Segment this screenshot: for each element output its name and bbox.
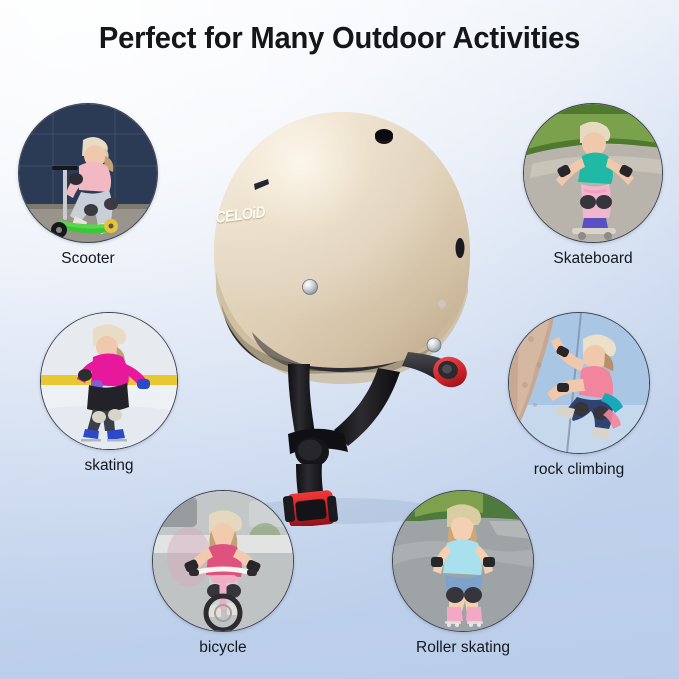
rock-climbing-scene [509,313,649,453]
bicycle-scene [153,491,293,631]
activity-card-bicycle[interactable]: bicycle [152,490,294,657]
activity-photo-rock-climbing [508,312,650,454]
helmet-highlight [214,112,470,368]
activity-card-scooter[interactable]: Scooter [18,103,158,268]
rivet-rear-icon [427,338,441,352]
activity-photo-scooter [18,103,158,243]
roller-skating-scene [393,491,533,631]
rivet-front-icon [303,280,318,295]
activity-card-roller-skating[interactable]: Roller skating [392,490,534,657]
vent-top-inner [375,129,393,141]
activity-label-scooter: Scooter [18,250,158,268]
activity-card-skateboard[interactable]: Skateboard [523,103,663,268]
activity-label-roller-skating: Roller skating [392,639,534,657]
activity-photo-roller-skating [392,490,534,632]
skateboard-scene [524,104,662,242]
activity-label-skateboard: Skateboard [523,250,663,268]
rivet-side-icon [438,300,446,308]
activity-label-bicycle: bicycle [152,639,294,657]
infographic-canvas: Perfect for Many Outdoor Activities [0,0,679,679]
skating-scene [41,313,177,449]
activity-card-rock-climbing[interactable]: rock climbing [508,312,650,479]
page-title: Perfect for Many Outdoor Activities [20,20,658,56]
product-helmet-image: CELOiD [192,96,492,526]
scooter-scene [19,104,157,242]
rear-dial-adjuster [402,352,471,392]
activity-card-skating[interactable]: skating [40,312,178,475]
activity-photo-bicycle [152,490,294,632]
activity-label-skating: skating [40,457,178,475]
activity-photo-skating [40,312,178,450]
activity-photo-skateboard [523,103,663,243]
helmet-illustration [192,96,492,526]
activity-label-rock-climbing: rock climbing [508,461,650,479]
vent-rear-slot-icon [456,238,465,258]
